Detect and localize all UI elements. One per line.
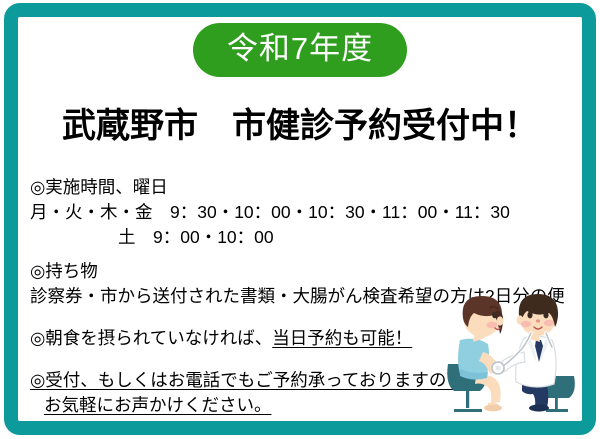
notice-same-day-emphasis: 当日予約も可能！: [272, 328, 412, 348]
section-hours-heading: ◎実施時間、曜日: [30, 175, 582, 200]
doctor-figure: [492, 294, 558, 412]
notice-same-day-prefix: ◎朝食を摂られていなければ、: [30, 328, 272, 348]
section-hours-line-weekdays: 月・火・木・金 9：30・10：00・10：30・11：00・11：30: [30, 200, 582, 225]
spacer-1: [30, 250, 582, 259]
section-hours: ◎実施時間、曜日 月・火・木・金 9：30・10：00・10：30・11：00・…: [30, 175, 582, 250]
patient-figure: [458, 296, 503, 411]
section-bring-items-heading: ◎持ち物: [30, 259, 582, 284]
era-badge: 令和7年度: [193, 23, 407, 77]
section-hours-line-saturday: 土 9：00・10：00: [30, 225, 582, 250]
doctor-examining-patient-illustration: [442, 290, 582, 420]
page-title: 武蔵野市 市健診予約受付中！: [18, 105, 582, 147]
era-badge-container: 令和7年度: [18, 23, 582, 77]
poster-root: 令和7年度 武蔵野市 市健診予約受付中！ ◎実施時間、曜日 月・火・木・金 9：…: [0, 0, 600, 439]
